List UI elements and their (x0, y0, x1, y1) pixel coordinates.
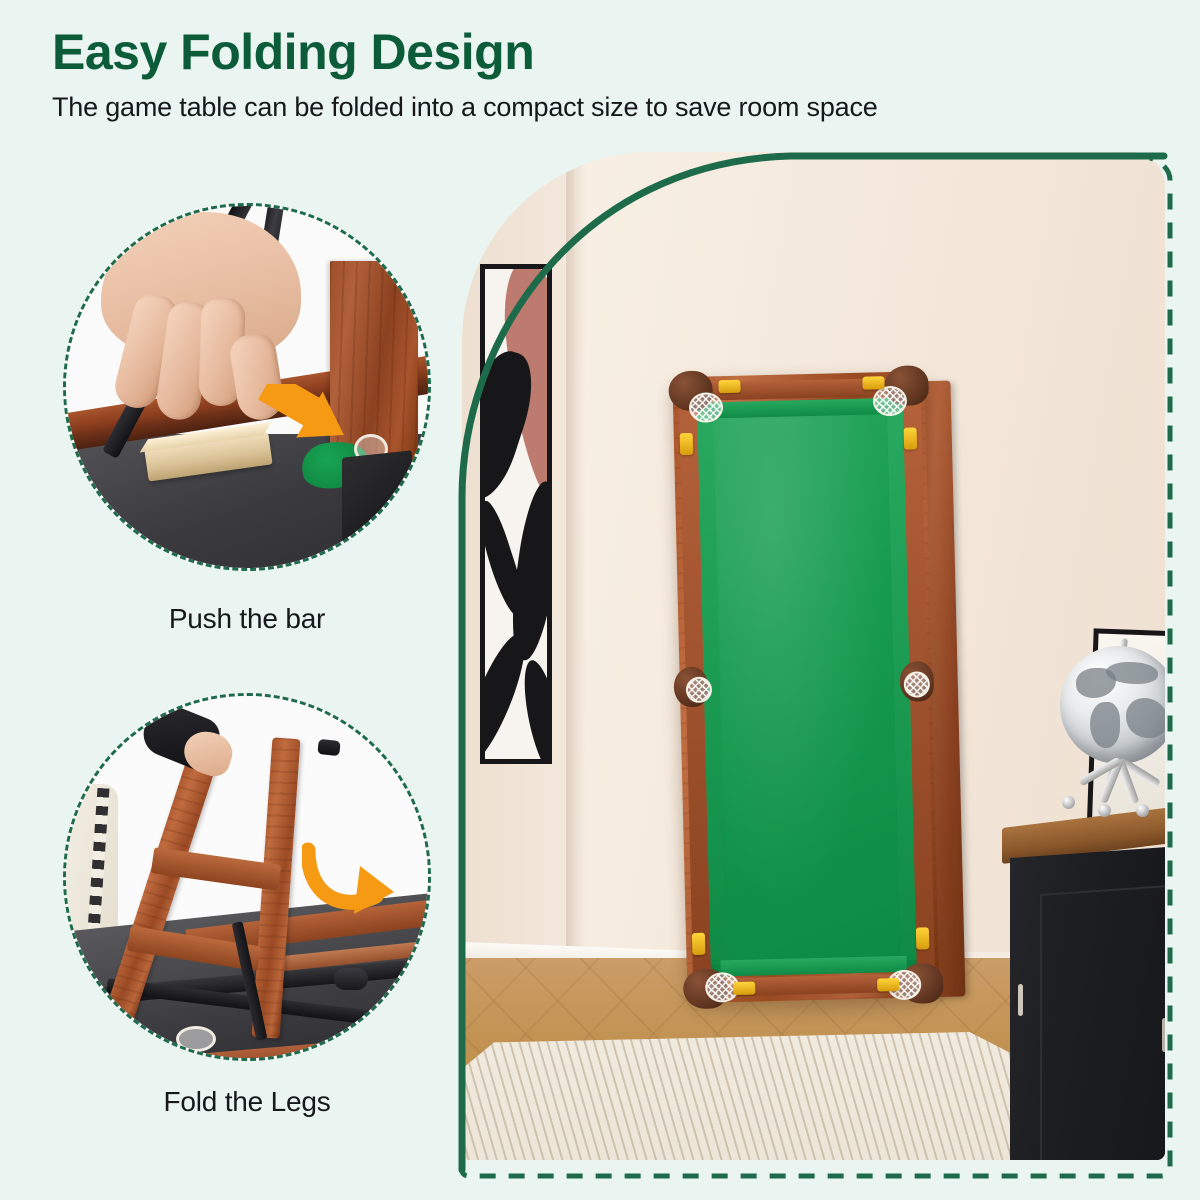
caption-push-the-bar: Push the bar (63, 603, 431, 635)
globe-stand (1058, 756, 1165, 808)
brass-bracket (680, 433, 694, 455)
page-subtitle: The game table can be folded into a comp… (52, 92, 1152, 123)
orange-arrow-icon (256, 384, 352, 440)
header-block: Easy Folding Design The game table can b… (52, 26, 1152, 123)
table-green-felt (697, 398, 917, 977)
caption-fold-the-legs: Fold the Legs (63, 1086, 431, 1118)
globe-stand-foot (1098, 804, 1111, 817)
brass-bracket (916, 927, 930, 949)
brass-bracket (692, 933, 706, 955)
inset-photo-push-the-bar (63, 203, 431, 571)
page-title: Easy Folding Design (52, 26, 1152, 78)
cabinet-handle (1162, 1018, 1165, 1052)
cabinet-handle (1018, 984, 1023, 1016)
globe-stand-foot (1136, 804, 1149, 817)
black-metal-bracket (342, 450, 412, 543)
main-photo-folded-table-in-room (462, 152, 1165, 1160)
roller-icon (334, 968, 368, 990)
leg-foot-cap (317, 739, 340, 756)
art-black-shape (517, 657, 552, 764)
inset-photo-fold-the-legs (63, 693, 431, 1061)
framed-wall-art (480, 264, 552, 764)
pocket-net-icon (176, 1026, 216, 1052)
globe-continent (1090, 702, 1120, 748)
push-the-bar-photo (66, 206, 428, 568)
globe-continent (1126, 698, 1165, 738)
fold-the-legs-photo (66, 696, 428, 1058)
brass-bracket (877, 978, 899, 992)
globe-stand-foot (1062, 796, 1075, 809)
brass-bracket (904, 427, 918, 449)
orange-curved-arrow-icon (302, 836, 398, 922)
brass-bracket (718, 380, 740, 394)
brass-bracket (862, 376, 884, 390)
brass-bracket (733, 982, 755, 996)
wall-corner-shadow (566, 152, 586, 992)
cabinet-door (1040, 882, 1165, 1160)
folded-billiard-table (672, 371, 955, 1011)
